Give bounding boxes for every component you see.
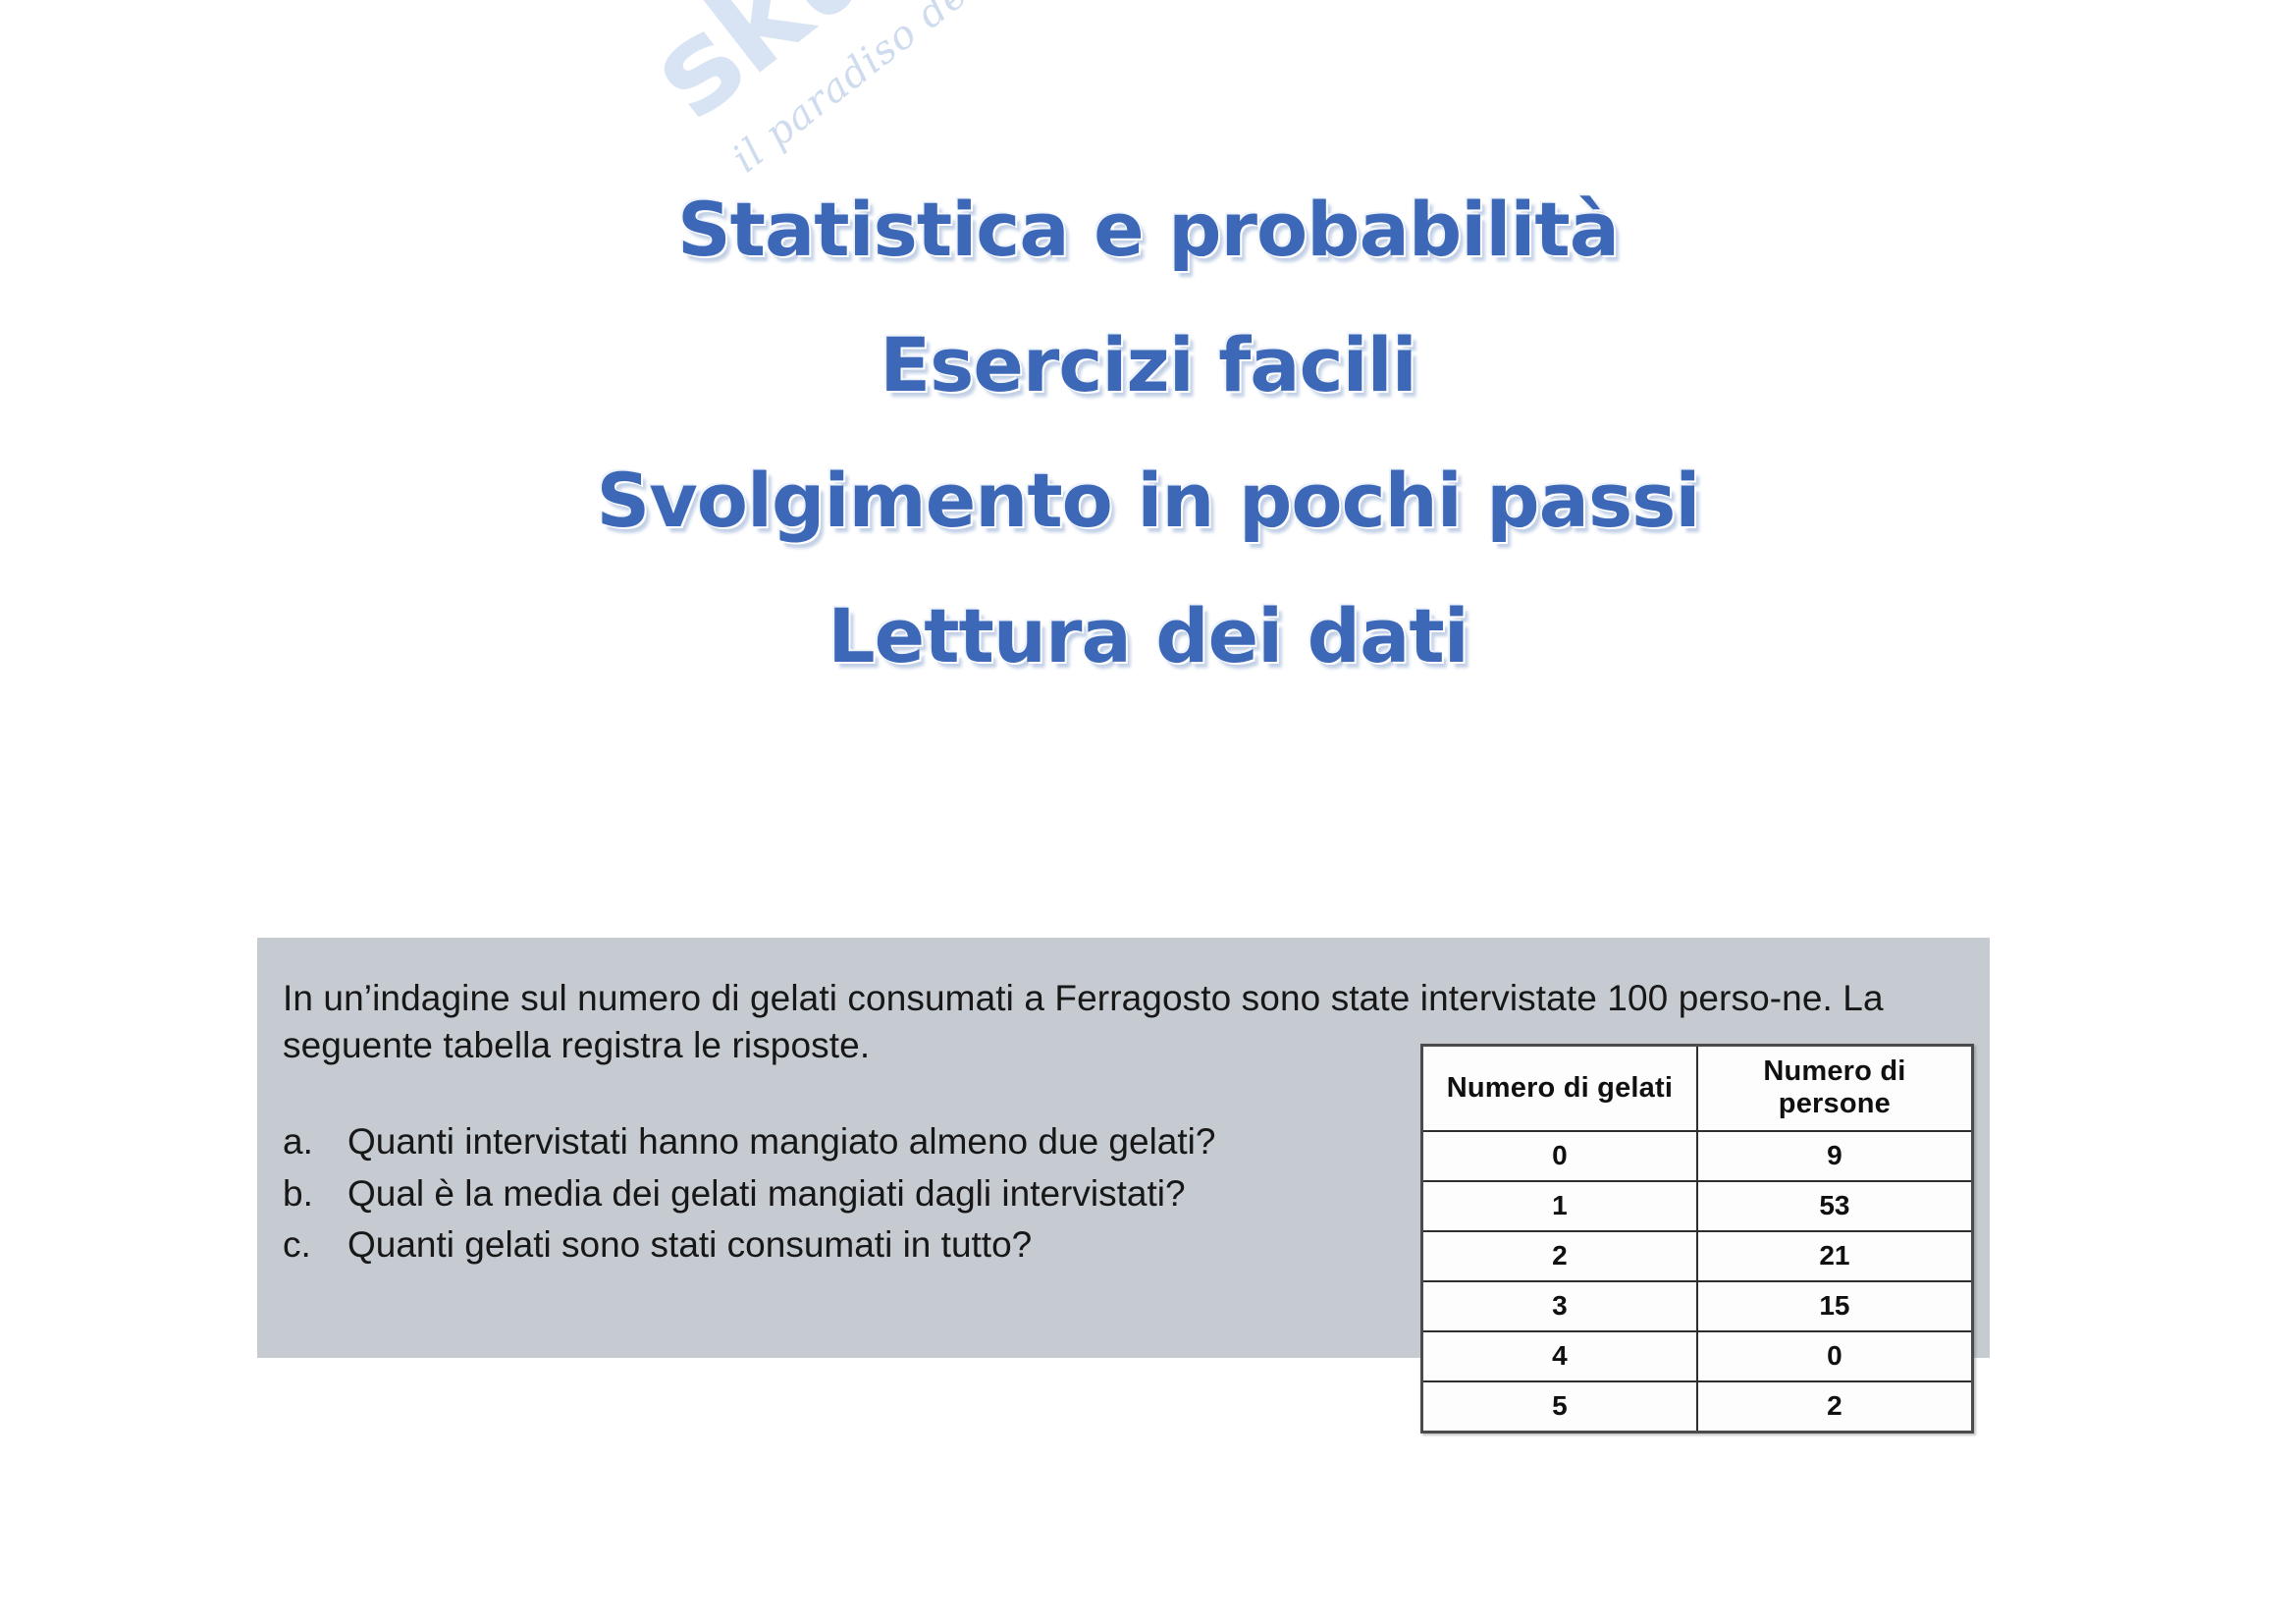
question-letter-b: b.	[283, 1168, 347, 1220]
cell-gelati-0: 0	[1422, 1131, 1697, 1181]
title-line-3: Svolgimento in pochi passi	[0, 463, 2296, 538]
cell-gelati-5: 5	[1422, 1381, 1697, 1433]
cell-persone-2: 21	[1697, 1231, 1973, 1281]
cell-persone-5: 2	[1697, 1381, 1973, 1433]
table-row: 0 9	[1422, 1131, 1973, 1181]
frequency-table-body: 0 9 1 53 2 21 3 15 4 0 5 2	[1422, 1131, 1973, 1433]
cell-persone-0: 9	[1697, 1131, 1973, 1181]
table-row: 4 0	[1422, 1331, 1973, 1381]
column-header-gelati: Numero di gelati	[1422, 1046, 1697, 1132]
title-block: Statistica e probabilità Esercizi facili…	[0, 192, 2296, 674]
frequency-table-head: Numero di gelati Numero di persone	[1422, 1046, 1973, 1132]
title-line-1: Statistica e probabilità	[0, 192, 2296, 267]
column-header-persone: Numero di persone	[1697, 1046, 1973, 1132]
table-row: 3 15	[1422, 1281, 1973, 1331]
cell-persone-3: 15	[1697, 1281, 1973, 1331]
title-line-2: Esercizi facili	[0, 328, 2296, 403]
table-row: 1 53	[1422, 1181, 1973, 1231]
skuola-watermark: skuola.net il paradiso dello studente	[628, 0, 1328, 188]
table-header-row: Numero di gelati Numero di persone	[1422, 1046, 1973, 1132]
cell-gelati-3: 3	[1422, 1281, 1697, 1331]
cell-persone-4: 0	[1697, 1331, 1973, 1381]
cell-gelati-2: 2	[1422, 1231, 1697, 1281]
cell-persone-1: 53	[1697, 1181, 1973, 1231]
title-line-4: Lettura dei dati	[0, 599, 2296, 674]
cell-gelati-4: 4	[1422, 1331, 1697, 1381]
watermark-logo: skuola.net	[628, 0, 1294, 144]
table-row: 5 2	[1422, 1381, 1973, 1433]
question-letter-c: c.	[283, 1219, 347, 1271]
watermark-tagline: il paradiso dello studente	[724, 0, 1328, 182]
exercise-panel: In un’indagine sul numero di gelati cons…	[257, 938, 1990, 1358]
frequency-table: Numero di gelati Numero di persone 0 9 1…	[1420, 1044, 1974, 1434]
watermark-logo-text: skuola	[622, 0, 1067, 147]
cell-gelati-1: 1	[1422, 1181, 1697, 1231]
question-letter-a: a.	[283, 1116, 347, 1168]
table-row: 2 21	[1422, 1231, 1973, 1281]
